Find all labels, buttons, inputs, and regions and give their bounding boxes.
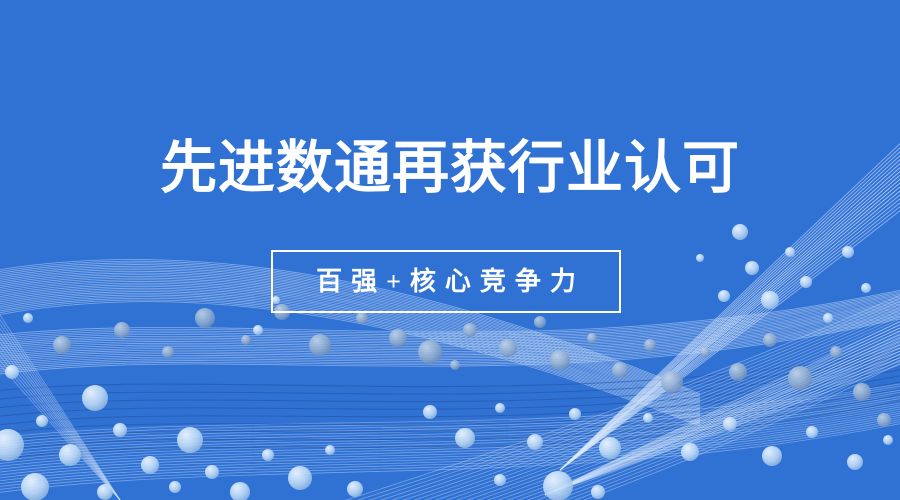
banner-content: 先进数通再获行业认可 百强+核心竞争力	[0, 0, 900, 500]
subtitle-box: 百强+核心竞争力	[271, 250, 621, 313]
page-title: 先进数通再获行业认可	[0, 138, 900, 200]
subtitle-text: 百强+核心竞争力	[307, 267, 585, 297]
promo-banner: 先进数通再获行业认可 百强+核心竞争力	[0, 0, 900, 500]
